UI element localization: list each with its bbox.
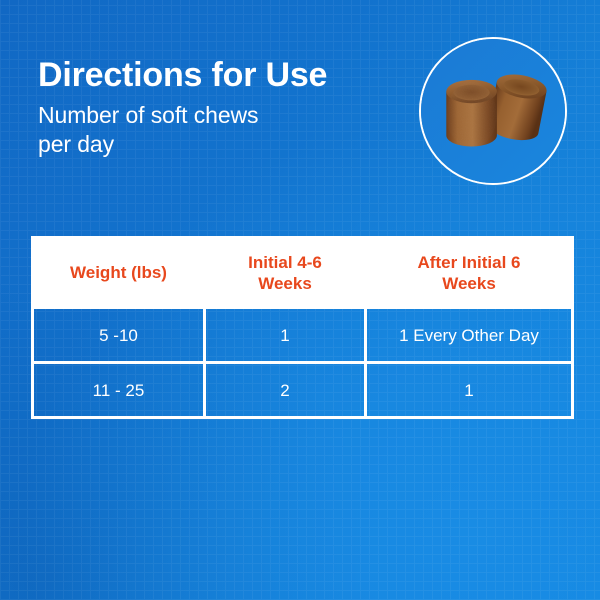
page-subtitle-line-1: Number of soft chews	[38, 101, 378, 130]
column-header-initial-weeks-line-1: Initial 4-6	[248, 252, 322, 273]
column-header-initial-weeks-line-2: Weeks	[248, 273, 322, 294]
column-header-after-initial-weeks-line-2: Weeks	[418, 273, 521, 294]
table-row: 5 -10 1 1 Every Other Day	[34, 306, 571, 361]
soft-chew-photo	[421, 39, 565, 183]
table-row: 11 - 25 2 1	[34, 361, 571, 416]
directions-for-use-panel: Directions for Use Number of soft chews …	[0, 0, 600, 600]
column-header-after-initial-weeks-line-1: After Initial 6	[418, 252, 521, 273]
table-header-row: Weight (lbs) Initial 4-6 Weeks After Ini…	[34, 239, 571, 306]
header-block: Directions for Use Number of soft chews …	[38, 55, 378, 159]
page-title: Directions for Use	[38, 55, 378, 95]
product-image-badge	[419, 37, 567, 185]
column-header-after-initial-weeks: After Initial 6 Weeks	[364, 239, 571, 306]
page-subtitle: Number of soft chews per day	[38, 101, 378, 159]
dosage-table: Weight (lbs) Initial 4-6 Weeks After Ini…	[31, 236, 574, 419]
column-header-weight: Weight (lbs)	[34, 239, 203, 306]
column-header-initial-weeks: Initial 4-6 Weeks	[203, 239, 364, 306]
cell-weight: 5 -10	[34, 309, 203, 361]
cell-initial-dose: 1	[203, 309, 364, 361]
cell-initial-dose: 2	[203, 364, 364, 416]
cell-after-dose: 1	[364, 364, 571, 416]
cell-weight: 11 - 25	[34, 364, 203, 416]
column-header-weight-line-1: Weight (lbs)	[70, 262, 167, 283]
page-subtitle-line-2: per day	[38, 130, 378, 159]
cell-after-dose: 1 Every Other Day	[364, 309, 571, 361]
